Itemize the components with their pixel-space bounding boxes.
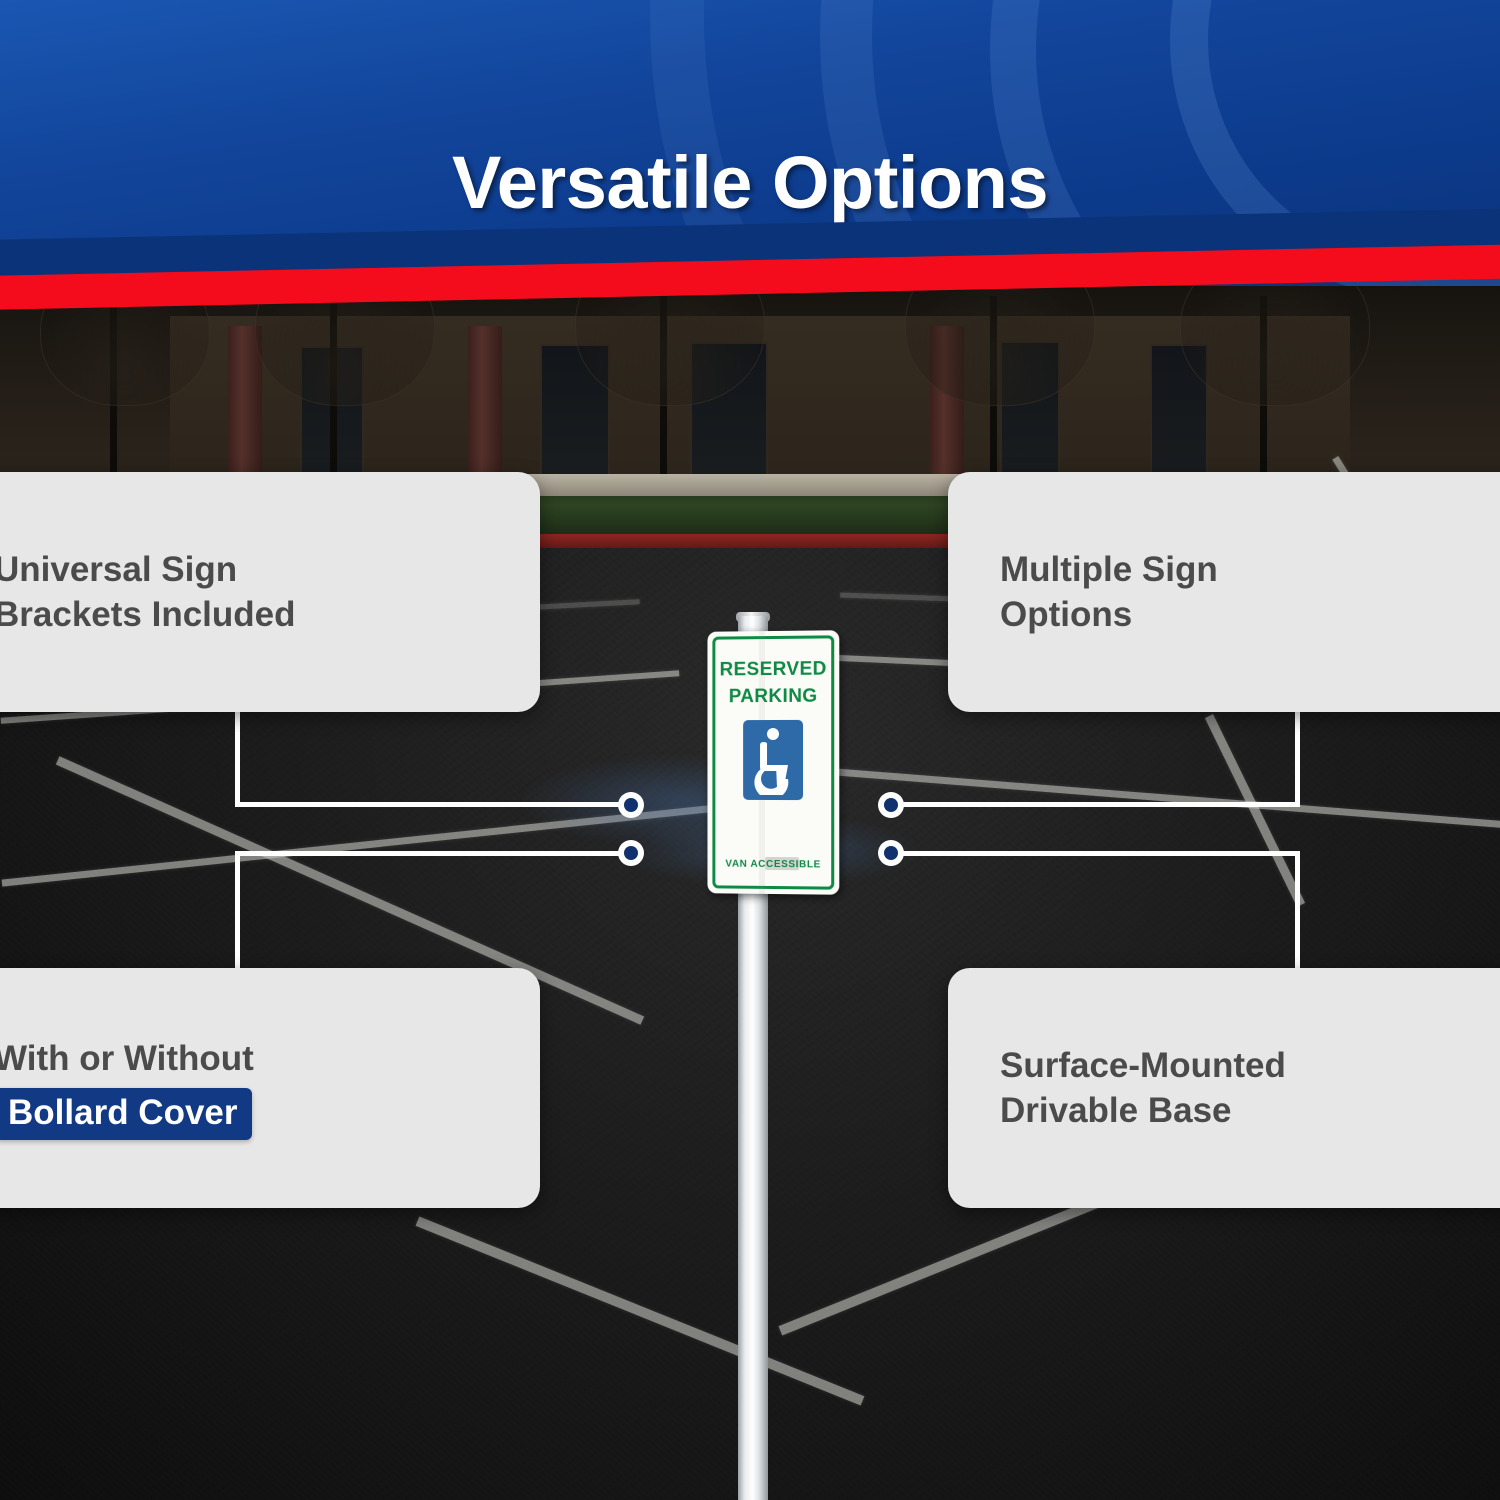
leader-dot-bottom-right xyxy=(878,840,904,866)
callout-line-1: Universal Sign xyxy=(0,547,540,593)
leader-line-bottom-right-horizontal xyxy=(891,851,1300,856)
callout-line-1: Multiple Sign xyxy=(1000,547,1500,593)
sign-line-reserved: RESERVED xyxy=(707,658,839,681)
headline-line-1: Versatile Options xyxy=(452,141,1048,224)
leader-dot-top-right xyxy=(878,792,904,818)
leader-line-bottom-left-horizontal xyxy=(235,851,631,856)
infographic-canvas: Versatile Options for Every Parking Lot xyxy=(0,0,1500,1500)
callout-surface-mounted-drivable-base[interactable]: Surface-Mounted Drivable Base xyxy=(948,968,1500,1208)
leader-line-top-left-vertical xyxy=(235,712,240,805)
leader-dot-bottom-left xyxy=(618,840,644,866)
reserved-parking-sign: RESERVED PARKING VAN ACCESSIBLE xyxy=(707,630,839,895)
callout-with-or-without-bollard-cover[interactable]: With or Without Bollard Cover xyxy=(0,968,540,1208)
callout-line-1: Surface-Mounted xyxy=(1000,1043,1500,1089)
leader-line-bottom-right-vertical xyxy=(1295,851,1300,968)
callout-universal-sign-brackets[interactable]: Universal Sign Brackets Included xyxy=(0,472,540,712)
product-photo: RESERVED PARKING VAN ACCESSIBLE xyxy=(0,286,1500,1500)
callout-line-1: With or Without xyxy=(0,1036,540,1082)
leader-line-bottom-left-vertical xyxy=(235,851,240,968)
sign-line-parking: PARKING xyxy=(707,686,839,709)
leader-line-top-left-horizontal xyxy=(235,802,631,807)
leader-line-top-right-horizontal xyxy=(891,802,1300,807)
wheelchair-accessibility-icon xyxy=(743,720,803,800)
callout-line-2: Brackets Included xyxy=(0,592,540,638)
sign-line-van-accessible: VAN ACCESSIBLE xyxy=(707,858,839,870)
bollard-cover-badge: Bollard Cover xyxy=(0,1088,252,1141)
leader-line-top-right-vertical xyxy=(1295,712,1300,805)
callout-line-2: Drivable Base xyxy=(1000,1088,1500,1134)
callout-line-2: Options xyxy=(1000,592,1500,638)
leader-dot-top-left xyxy=(618,792,644,818)
callout-multiple-sign-options[interactable]: Multiple Sign Options xyxy=(948,472,1500,712)
